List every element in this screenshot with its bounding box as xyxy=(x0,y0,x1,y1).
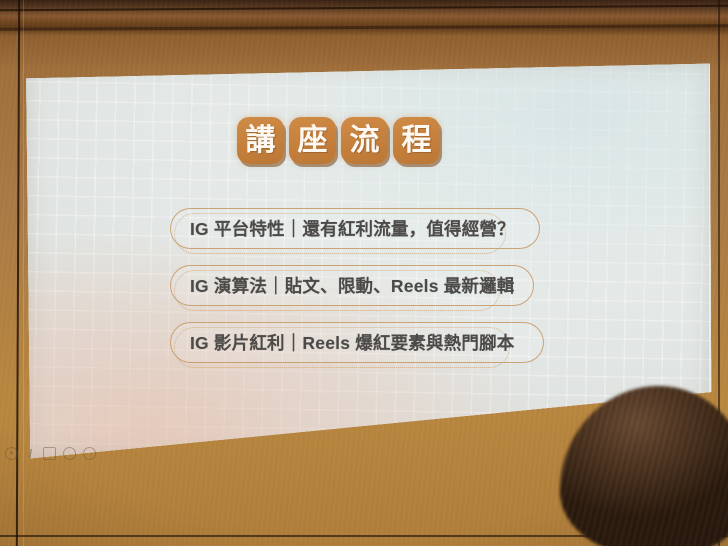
door-frame-highlight xyxy=(23,0,24,546)
blackout-icon[interactable] xyxy=(63,447,76,460)
photograph: 講 座 流 程 IG 平台特性｜還有紅利流量，值得經營？ IG 演算法｜貼文、限… xyxy=(0,0,728,546)
presenter-control-bar[interactable]: • / xyxy=(5,447,96,460)
pen-icon[interactable]: / xyxy=(25,448,36,459)
more-options-icon[interactable] xyxy=(83,447,96,460)
laser-pointer-icon[interactable]: • xyxy=(5,447,18,460)
slide-overview-icon[interactable] xyxy=(43,447,56,460)
